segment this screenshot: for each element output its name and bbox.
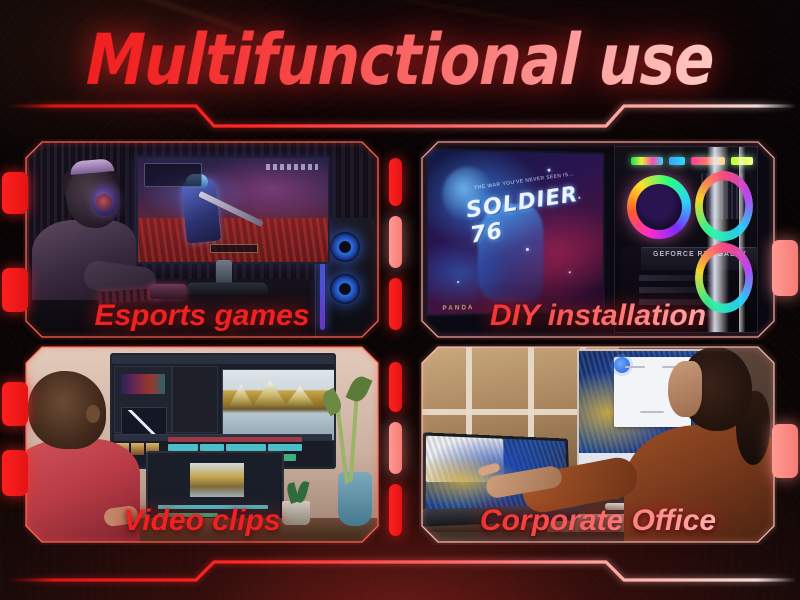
panel-esports-games[interactable]: Esports games bbox=[26, 142, 378, 337]
side-tab-left-2 bbox=[2, 268, 28, 312]
caption-diy-installation: DIY installation bbox=[422, 299, 774, 333]
center-rail-segment-3 bbox=[389, 278, 402, 330]
side-tab-left-1 bbox=[2, 172, 28, 214]
center-rail-segment-2 bbox=[389, 216, 402, 268]
side-tab-right-1 bbox=[772, 240, 798, 296]
monitor-game-art: THE WAR YOU'VE NEVER SEEN IS… SOLDIER 76… bbox=[426, 147, 605, 316]
side-tab-left-4 bbox=[2, 450, 28, 496]
center-rail-segment-5 bbox=[389, 422, 402, 474]
rgb-cooling-fan bbox=[627, 175, 691, 239]
caption-esports-games: Esports games bbox=[26, 299, 378, 333]
side-tab-right-2 bbox=[772, 424, 798, 478]
video-preview bbox=[222, 369, 336, 441]
panel-corporate-office[interactable]: Corporate Office bbox=[422, 347, 774, 542]
panel-diy-installation[interactable]: THE WAR YOU'VE NEVER SEEN IS… SOLDIER 76… bbox=[422, 142, 774, 337]
panel-video-clips[interactable]: Video clips bbox=[26, 347, 378, 542]
center-rail-segment-6 bbox=[389, 484, 402, 536]
center-rail-segment-1 bbox=[389, 158, 402, 206]
caption-video-clips: Video clips bbox=[26, 504, 378, 538]
dialog-icon bbox=[614, 357, 630, 373]
caption-corporate-office: Corporate Office bbox=[422, 504, 774, 538]
side-tab-left-3 bbox=[2, 382, 28, 426]
rgb-light-arc bbox=[695, 171, 753, 241]
gaming-monitor bbox=[136, 156, 330, 264]
center-rail-segment-4 bbox=[389, 362, 402, 412]
poster-root: Multifunctional use bbox=[0, 0, 800, 600]
page-title: Multifunctional use bbox=[23, 22, 777, 98]
